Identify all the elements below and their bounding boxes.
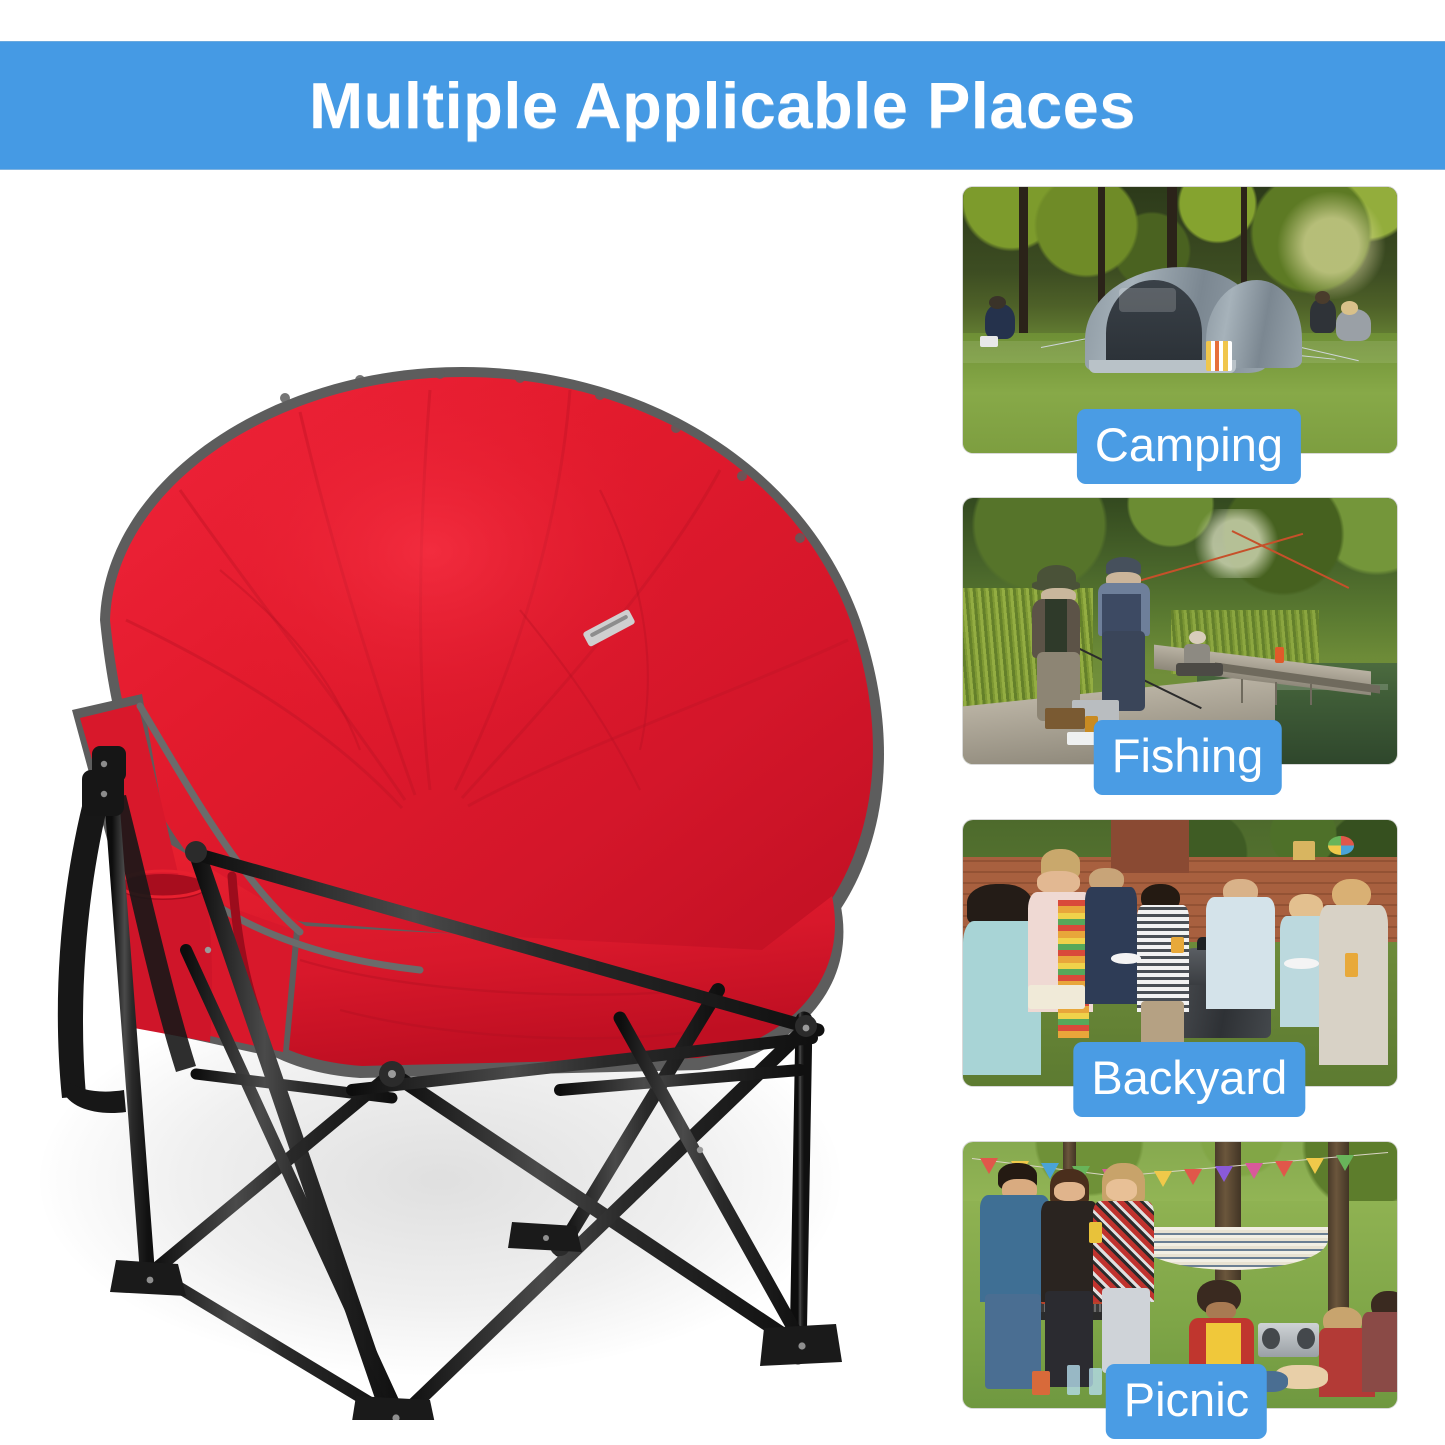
frame-feet (110, 1222, 842, 1420)
card-label-camping: Camping (1077, 409, 1301, 484)
product-image (0, 190, 930, 1420)
page-title: Multiple Applicable Places (309, 68, 1136, 143)
use-case-card-fishing[interactable]: Fishing (962, 497, 1398, 765)
camping-chair-illustration (0, 190, 930, 1420)
header-banner: Multiple Applicable Places (0, 41, 1445, 170)
card-label-backyard: Backyard (1073, 1042, 1305, 1117)
product-infographic: Multiple Applicable Places (0, 0, 1445, 1445)
card-label-fishing: Fishing (1094, 720, 1282, 795)
use-case-card-camping[interactable]: Camping (962, 186, 1398, 454)
card-label-picnic: Picnic (1106, 1364, 1267, 1439)
use-case-card-picnic[interactable]: Picnic (962, 1141, 1398, 1409)
use-case-card-list: Camping (962, 186, 1398, 1436)
use-case-card-backyard[interactable]: Backyard (962, 819, 1398, 1087)
